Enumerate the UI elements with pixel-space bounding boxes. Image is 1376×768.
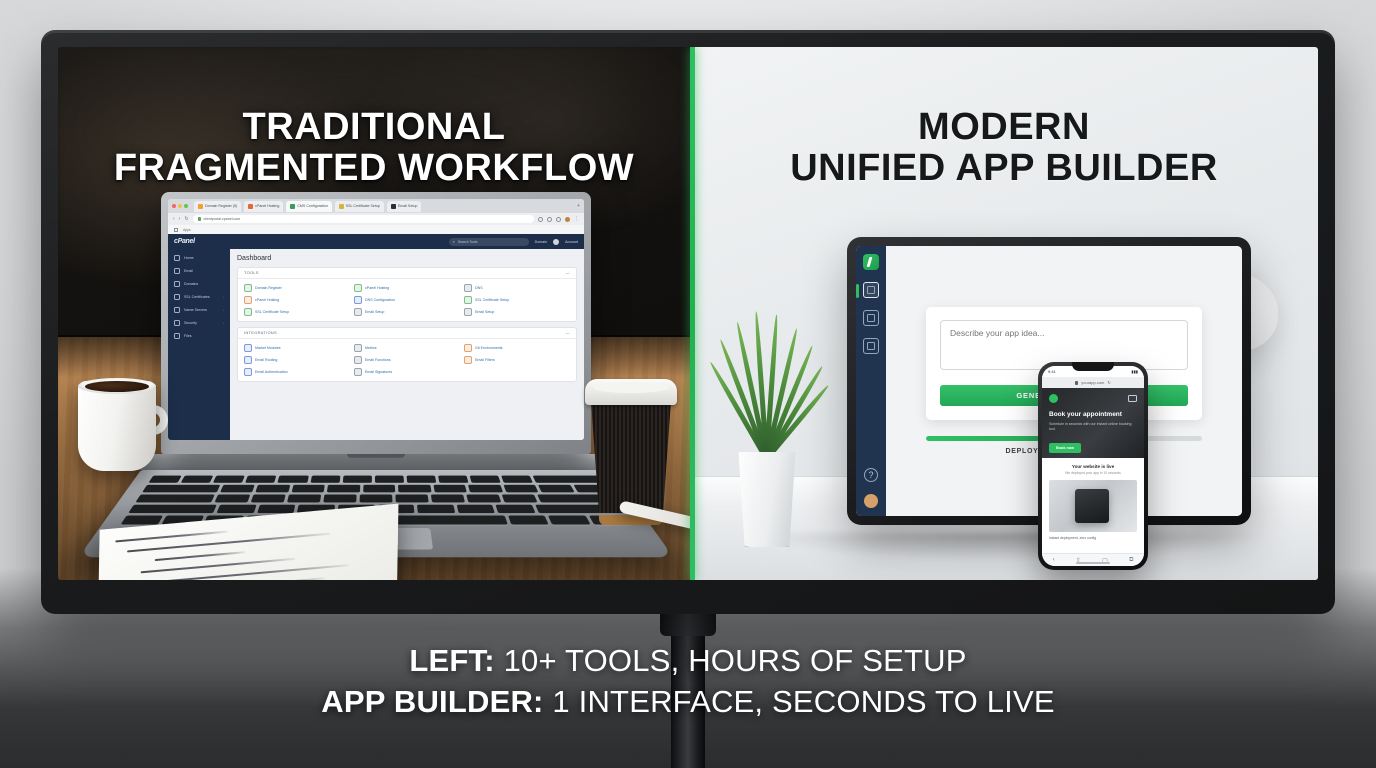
search-icon: ⌕ (453, 239, 455, 244)
lock-icon (174, 294, 180, 300)
phone-mockup: 9:41 ▮▮▮ yourapp.com ↻ (1038, 362, 1148, 570)
help-icon[interactable]: ? (864, 468, 878, 482)
tool-item[interactable]: cPanel Hosting (354, 284, 460, 292)
left-headline: TRADITIONAL FRAGMENTED WORKFLOW (58, 107, 690, 188)
bookmark-star-icon[interactable] (547, 217, 552, 222)
phone-screen: 9:41 ▮▮▮ yourapp.com ↻ (1042, 366, 1144, 566)
green-divider-line (690, 47, 695, 580)
cpanel-sidebar: Home Email Domains (168, 249, 230, 440)
tool-label: cPanel Hosting (365, 286, 389, 290)
shield-icon (174, 320, 180, 326)
folder-icon (174, 333, 180, 339)
phone-url-text: yourapp.com (1081, 380, 1104, 385)
phone-url-bar[interactable]: yourapp.com ↻ (1042, 377, 1144, 388)
status-time: 9:41 (1048, 369, 1056, 374)
url-text: clientportal.cpanel.com (204, 217, 241, 221)
caption-line-2: APP BUILDER: 1 INTERFACE, SECONDS TO LIV… (0, 681, 1376, 722)
back-icon[interactable]: ‹ (173, 216, 175, 222)
bookmarks-bar: Apps (168, 225, 584, 234)
tab-favicon-icon (198, 204, 203, 209)
section-subtitle: We deployed your app in 10 seconds (1049, 471, 1137, 475)
integration-label: Market Modules (255, 346, 281, 350)
email-filters-icon (464, 356, 472, 364)
hosting-icon (354, 284, 362, 292)
email-functions-icon (354, 356, 362, 364)
left-headline-line1: TRADITIONAL (58, 107, 690, 148)
coffee-mug (72, 377, 167, 473)
sidebar-item-email[interactable]: Email (168, 268, 230, 274)
browser-url-bar: ‹ › ↻ clientportal.cpanel.com (168, 213, 584, 225)
tool-label: Email Setup (475, 310, 494, 314)
phone-notch (1072, 362, 1114, 371)
collapse-icon[interactable]: — (566, 271, 570, 275)
url-input[interactable]: clientportal.cpanel.com (193, 215, 534, 223)
sidebar-item-domains[interactable]: Domains (168, 281, 230, 287)
plant-pot (736, 452, 798, 547)
window-controls (172, 204, 188, 208)
topbar-account-menu[interactable]: Account (565, 240, 578, 244)
forward-icon[interactable]: › (179, 216, 181, 222)
browser-tab[interactable]: Domain Register (5) (194, 201, 241, 212)
tool-label: cPanel Hosting (255, 298, 279, 302)
integrations-grid: Market Modules Metrics Git Environments … (238, 339, 576, 381)
mug-body (78, 381, 156, 471)
browser-tab-label: cPanel Hosting (255, 204, 279, 208)
caption-line-1-label: LEFT: (409, 643, 494, 678)
integration-label: Metrics (365, 346, 377, 350)
sidebar-item-label: Name Servers (184, 308, 207, 312)
minimize-window-dot[interactable] (178, 204, 182, 208)
integrations-card-title: INTEGRATIONS (244, 331, 277, 335)
email-routing-icon (244, 356, 252, 364)
integration-item[interactable]: Market Modules (244, 344, 350, 352)
integration-label: Git Environments (475, 346, 503, 350)
integration-item[interactable]: Email Authentication (244, 368, 350, 376)
keyboard-row (135, 494, 616, 502)
tab-favicon-icon (339, 204, 344, 209)
tabs-icon[interactable]: ⧉ (1129, 557, 1133, 564)
panel-traditional: TRADITIONAL FRAGMENTED WORKFLOW (58, 47, 690, 580)
dns-config-icon (354, 296, 362, 304)
caption-line-2-label: APP BUILDER: (321, 684, 543, 719)
integration-label: Email Authentication (255, 370, 288, 374)
topbar-avatar[interactable] (553, 239, 559, 245)
sidebar-item-label: SSL Certificates (184, 295, 210, 299)
laptop-notch (347, 454, 405, 458)
panel-modern: MODERN UNIFIED APP BUILDER (690, 47, 1318, 580)
hero-cta-button[interactable]: Book now (1049, 443, 1081, 453)
hero-heading: Book your appointment (1049, 411, 1137, 419)
hero-subtext: Schedule in seconds with our instant onl… (1049, 422, 1137, 431)
monitor-chin (41, 580, 1335, 614)
browser-tab-label: Email Setup (398, 204, 417, 208)
chain-icon (244, 296, 252, 304)
tools-grid: Domain Register cPanel Hosting DNS cPane… (238, 279, 576, 321)
integration-label: Email Functions (365, 358, 391, 362)
tool-item[interactable]: SSL Certificate Setup (464, 296, 570, 304)
bookmark-item-label[interactable]: Apps (183, 228, 191, 232)
browser-tab-label: CMS Configuration (297, 204, 327, 208)
chevron-right-icon: › (223, 295, 224, 299)
chevron-right-icon: › (223, 321, 224, 325)
tool-label: DNS (475, 286, 483, 290)
laptop-screen: Domain Register (5) cPanel Hosting CMS C… (168, 199, 584, 440)
keyboard-row (142, 485, 610, 493)
right-headline: MODERN UNIFIED APP BUILDER (690, 107, 1318, 188)
laptop-lid: Domain Register (5) cPanel Hosting CMS C… (161, 192, 591, 454)
tool-item[interactable]: DNS Configuration (354, 296, 460, 304)
integrations-card: INTEGRATIONS — Market Modules Metrics Gi… (237, 327, 577, 382)
browser-toolbar-icons: ⋮ (538, 216, 579, 222)
email-setup-icon (354, 308, 362, 316)
status-indicators-icon: ▮▮▮ (1131, 369, 1138, 374)
app-window-icon[interactable] (863, 282, 879, 298)
server-icon (174, 307, 180, 313)
browser-tab[interactable]: cPanel Hosting (244, 201, 283, 212)
tab-favicon-icon (290, 204, 295, 209)
caption-block: LEFT: 10+ TOOLS, HOURS OF SETUP APP BUIL… (0, 640, 1376, 722)
integration-item[interactable]: Git Environments (464, 344, 570, 352)
monitor-screen: TRADITIONAL FRAGMENTED WORKFLOW (58, 47, 1318, 580)
app-builder-logo-icon (863, 254, 879, 270)
cpanel-search-placeholder: Search Tools (458, 240, 478, 244)
sidebar-item-ssl-certificates[interactable]: SSL Certificates › (168, 294, 230, 300)
profile-avatar-icon[interactable] (565, 217, 570, 222)
domain-register-icon (244, 284, 252, 292)
menu-kebab-icon[interactable]: ⋮ (574, 216, 579, 222)
sidebar-item-home[interactable]: Home (168, 255, 230, 261)
sitemap-icon[interactable] (863, 310, 879, 326)
section-caption: Instant deployment, zero config (1049, 536, 1137, 540)
tool-item[interactable]: DNS (464, 284, 570, 292)
sidebar-item-label: Security (184, 321, 197, 325)
cpanel-main-content: Dashboard TOOLS — Domain Registe (230, 249, 584, 440)
caption-line-1: LEFT: 10+ TOOLS, HOURS OF SETUP (0, 640, 1376, 681)
envelope-icon (174, 268, 180, 274)
tool-item[interactable]: Email Setup (464, 308, 570, 316)
site-logo-icon (1049, 394, 1058, 403)
sidebar-item-label: Email (184, 269, 193, 273)
cpanel-topbar: cPanel ⌕ Search Tools Domain Account (168, 234, 584, 249)
cup-body (591, 401, 671, 513)
integration-label: Email Filters (475, 358, 495, 362)
email-auth-icon (244, 368, 252, 376)
collapse-icon[interactable]: — (566, 331, 570, 335)
phone-browser-tabbar: ‹ ⇧ ▢ ⧉ (1042, 553, 1144, 566)
section-image (1049, 480, 1137, 532)
reload-icon[interactable]: ↻ (184, 216, 188, 222)
chevron-right-icon: › (223, 308, 224, 312)
ssl-lock-icon (464, 296, 472, 304)
integrations-card-header: INTEGRATIONS — (238, 328, 576, 339)
right-headline-line1: MODERN (690, 107, 1318, 148)
integration-item[interactable]: Email Routing (244, 356, 350, 364)
page-title: Dashboard (237, 255, 577, 262)
browser-tab-label: Domain Register (5) (205, 204, 237, 208)
close-window-dot[interactable] (172, 204, 176, 208)
share-nodes-icon[interactable] (863, 338, 879, 354)
integration-label: Email Routing (255, 358, 277, 362)
browser-tab[interactable]: Email Setup (387, 201, 421, 212)
right-headline-line2: UNIFIED APP BUILDER (690, 148, 1318, 189)
integration-item[interactable]: Email Filters (464, 356, 570, 364)
home-indicator (1076, 562, 1110, 564)
rocket-icon (464, 344, 472, 352)
tool-label: Domain Register (255, 286, 282, 290)
browser-tab-bar: Domain Register (5) cPanel Hosting CMS C… (168, 199, 584, 213)
laptop-base (126, 454, 626, 470)
browser-tab-label: SSL Certificate Setup (346, 204, 380, 208)
tab-favicon-icon (391, 204, 396, 209)
new-tab-button[interactable]: + (577, 203, 580, 209)
site-header (1049, 394, 1137, 403)
integration-item[interactable]: Email Signatures (354, 368, 460, 376)
sidebar-item-security[interactable]: Security › (168, 320, 230, 326)
browser-nav-buttons: ‹ › ↻ (173, 216, 189, 222)
email-signatures-icon (354, 368, 362, 376)
apps-grid-icon[interactable] (174, 228, 178, 232)
dns-icon (464, 284, 472, 292)
metrics-icon (354, 344, 362, 352)
tools-card: TOOLS — Domain Register cPanel Hosting D… (237, 267, 577, 322)
tool-item[interactable]: Email Setup (354, 308, 460, 316)
sidebar-item-label: Domains (184, 282, 198, 286)
keyboard-row (148, 476, 603, 483)
comparison-graphic: TRADITIONAL FRAGMENTED WORKFLOW (0, 0, 1376, 768)
extension-icon[interactable] (538, 217, 543, 222)
market-modules-icon (244, 344, 252, 352)
tab-favicon-icon (248, 204, 253, 209)
cpanel-search-input[interactable]: ⌕ Search Tools (449, 238, 529, 246)
email-gear-icon (464, 308, 472, 316)
lock-icon (198, 217, 201, 221)
downloads-icon[interactable] (556, 217, 561, 222)
caption-line-1-text: 10+ TOOLS, HOURS OF SETUP (504, 643, 967, 678)
device-shadow (750, 533, 1258, 559)
cpanel-logo: cPanel (174, 238, 195, 245)
home-icon (174, 255, 180, 261)
hamburger-menu-icon[interactable] (1128, 395, 1137, 402)
cup-lid (585, 379, 677, 405)
app-builder-sidebar: ? (856, 246, 886, 516)
generated-site-hero: Book your appointment Schedule in second… (1042, 388, 1144, 458)
integration-item[interactable]: Email Functions (354, 356, 460, 364)
tool-label: SSL Certificate Setup (475, 298, 509, 302)
reload-icon[interactable]: ↻ (1107, 380, 1110, 385)
integration-item[interactable]: Metrics (354, 344, 460, 352)
cpanel-body: Home Email Domains (168, 249, 584, 440)
browser-tab-active[interactable]: CMS Configuration (286, 201, 331, 212)
globe-icon (174, 281, 180, 287)
tool-item[interactable]: cPanel Hosting (244, 296, 350, 304)
tools-card-header: TOOLS — (238, 268, 576, 279)
tool-item[interactable]: Domain Register (244, 284, 350, 292)
tool-item[interactable]: SSL Certificate Setup (244, 308, 350, 316)
monitor-frame: TRADITIONAL FRAGMENTED WORKFLOW (41, 30, 1335, 614)
mug-coffee-surface (85, 381, 149, 392)
browser-tab[interactable]: SSL Certificate Setup (335, 201, 384, 212)
tools-card-title: TOOLS (244, 271, 259, 275)
generated-site-section: Your website is live We deployed your ap… (1042, 458, 1144, 553)
sidebar-item-label: Home (184, 256, 194, 260)
sidebar-item-name-servers[interactable]: Name Servers › (168, 307, 230, 313)
potted-plant (712, 302, 822, 547)
sidebar-item-label: Files (184, 334, 192, 338)
tool-label: Email Setup (365, 310, 384, 314)
back-icon[interactable]: ‹ (1053, 557, 1055, 563)
maximize-window-dot[interactable] (184, 204, 188, 208)
tool-label: SSL Certificate Setup (255, 310, 289, 314)
sidebar-item-files[interactable]: Files (168, 333, 230, 339)
lock-icon (1075, 381, 1078, 385)
integration-label: Email Signatures (365, 370, 392, 374)
tool-label: DNS Configuration (365, 298, 395, 302)
left-headline-line2: FRAGMENTED WORKFLOW (58, 148, 690, 189)
section-title: Your website is live (1049, 464, 1137, 469)
topbar-domain-menu[interactable]: Domain (535, 240, 547, 244)
ssl-cert-icon (244, 308, 252, 316)
caption-line-2-text: 1 INTERFACE, SECONDS TO LIVE (552, 684, 1054, 719)
user-avatar[interactable] (864, 494, 878, 508)
